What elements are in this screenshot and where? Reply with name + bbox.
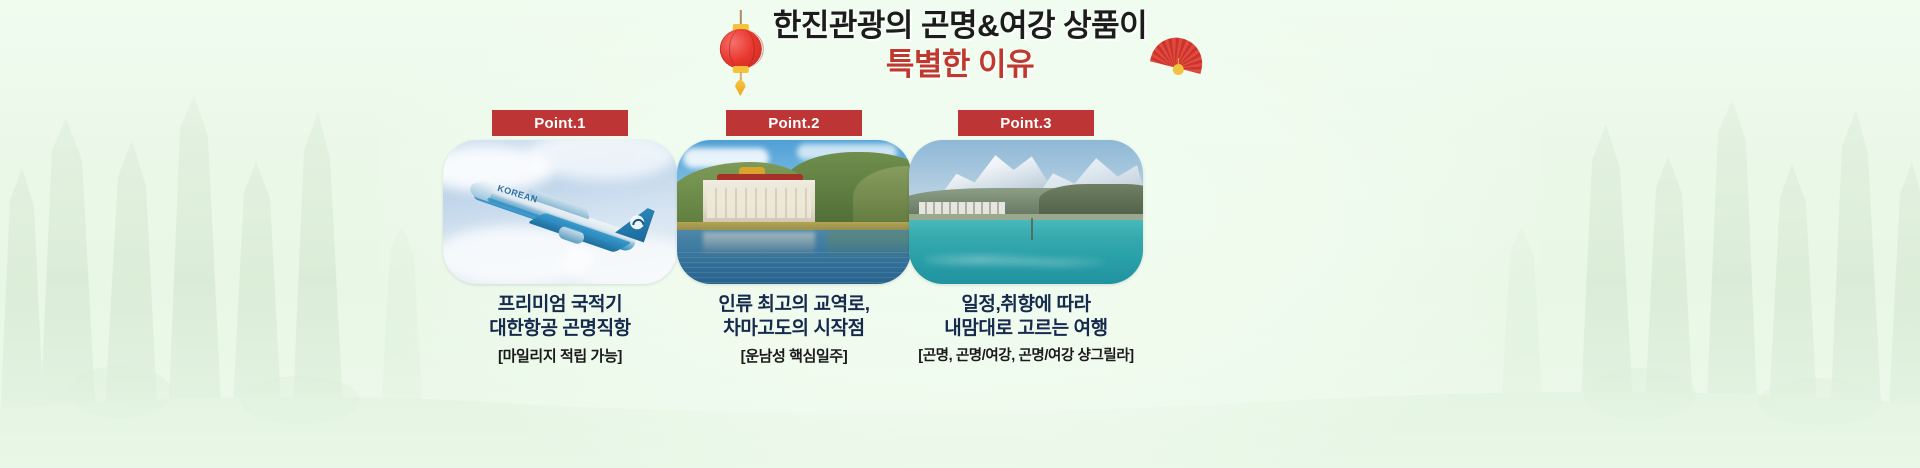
point-card-2[interactable]: Point.2 인류 최고의 교역로, 차마고도의 시작점 [운남성 핵심일주] <box>664 110 924 366</box>
point-card-1[interactable]: Point.1 KOREAN 프리미엄 국적기 대한항공 곤명직항 [마일리 <box>430 110 690 366</box>
point-caption-3: 일정,취향에 따라 내맘대로 고르는 여행 [곤명, 곤명/여강, 곤명/여강 … <box>918 293 1133 365</box>
point-card-3[interactable]: Point.3 일정,취향에 따라 내맘대로 고르는 여행 [곤명, 곤명/여강… <box>896 110 1156 365</box>
korean-air-airplane-photo: KOREAN <box>443 140 677 284</box>
songzanlin-monastery-lake-photo <box>677 140 911 284</box>
point-caption-1: 프리미엄 국적기 대한항공 곤명직항 [마일리지 적립 가능] <box>489 293 631 366</box>
point-badge-1: Point.1 <box>492 110 628 136</box>
caption-1-line-3: [마일리지 적립 가능] <box>489 347 631 366</box>
caption-3-line-2: 내맘대로 고르는 여행 <box>918 317 1133 341</box>
promo-banner: 한진관광의 곤명&여강 상품이 특별한 이유 Point.1 <box>0 0 1920 468</box>
caption-3-line-1: 일정,취향에 따라 <box>918 293 1133 317</box>
point-badge-3: Point.3 <box>958 110 1094 136</box>
caption-1-line-2: 대한항공 곤명직항 <box>489 317 631 341</box>
caption-1-line-1: 프리미엄 국적기 <box>489 293 631 317</box>
caption-2-line-3: [운남성 핵심일주] <box>718 347 869 366</box>
points-row: Point.1 KOREAN 프리미엄 국적기 대한항공 곤명직항 [마일리 <box>0 0 1920 468</box>
point-caption-2: 인류 최고의 교역로, 차마고도의 시작점 [운남성 핵심일주] <box>718 293 869 366</box>
snow-mountain-blue-lake-photo <box>909 140 1143 284</box>
caption-3-line-3: [곤명, 곤명/여강, 곤명/여강 샹그릴라] <box>918 347 1133 366</box>
caption-2-line-2: 차마고도의 시작점 <box>718 317 869 341</box>
point-badge-2: Point.2 <box>726 110 862 136</box>
caption-2-line-1: 인류 최고의 교역로, <box>718 293 869 317</box>
